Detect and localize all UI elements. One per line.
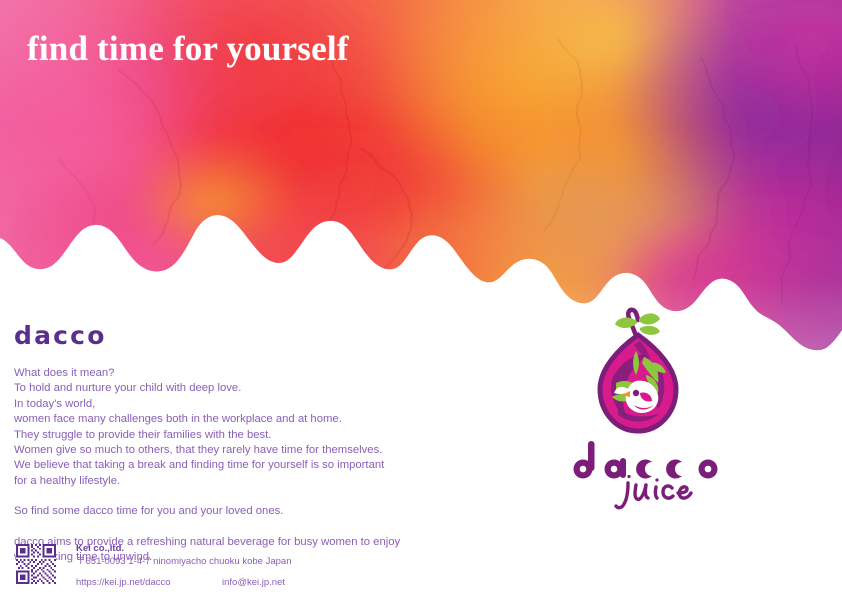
email-link[interactable]: info@kei.jp.net — [222, 576, 285, 589]
body-paragraph-2: So find some dacco time for you and your… — [14, 504, 414, 519]
brand-heading: dacco — [14, 322, 414, 350]
qr-code-icon[interactable] — [16, 544, 56, 584]
page-title: find time for yourself — [27, 29, 349, 69]
footer-text-lines: Kei co.,ltd. 〒651-0093 1-4-7 ninomiyacho… — [76, 543, 416, 589]
footer-links: https://kei.jp.net/dacco info@kei.jp.net — [76, 576, 416, 589]
flyer-page: find time for yourself dacco What does i… — [0, 0, 842, 595]
website-link[interactable]: https://kei.jp.net/dacco — [76, 576, 171, 589]
company-name: Kei co.,ltd. — [76, 543, 416, 555]
footer-contact-block: Kei co.,ltd. 〒651-0093 1-4-7 ninomiyacho… — [16, 543, 436, 587]
body-paragraph-1: What does it mean? To hold and nurture y… — [14, 366, 414, 489]
logo-tagline-juice — [566, 473, 746, 513]
copy-column: dacco What does it mean? To hold and nur… — [14, 322, 414, 565]
fruit-leaf-logo-icon — [588, 305, 688, 440]
dacco-juice-logo — [566, 305, 746, 520]
company-address: 〒651-0093 1-4-7 ninomiyacho chuoku kobe … — [76, 555, 416, 569]
